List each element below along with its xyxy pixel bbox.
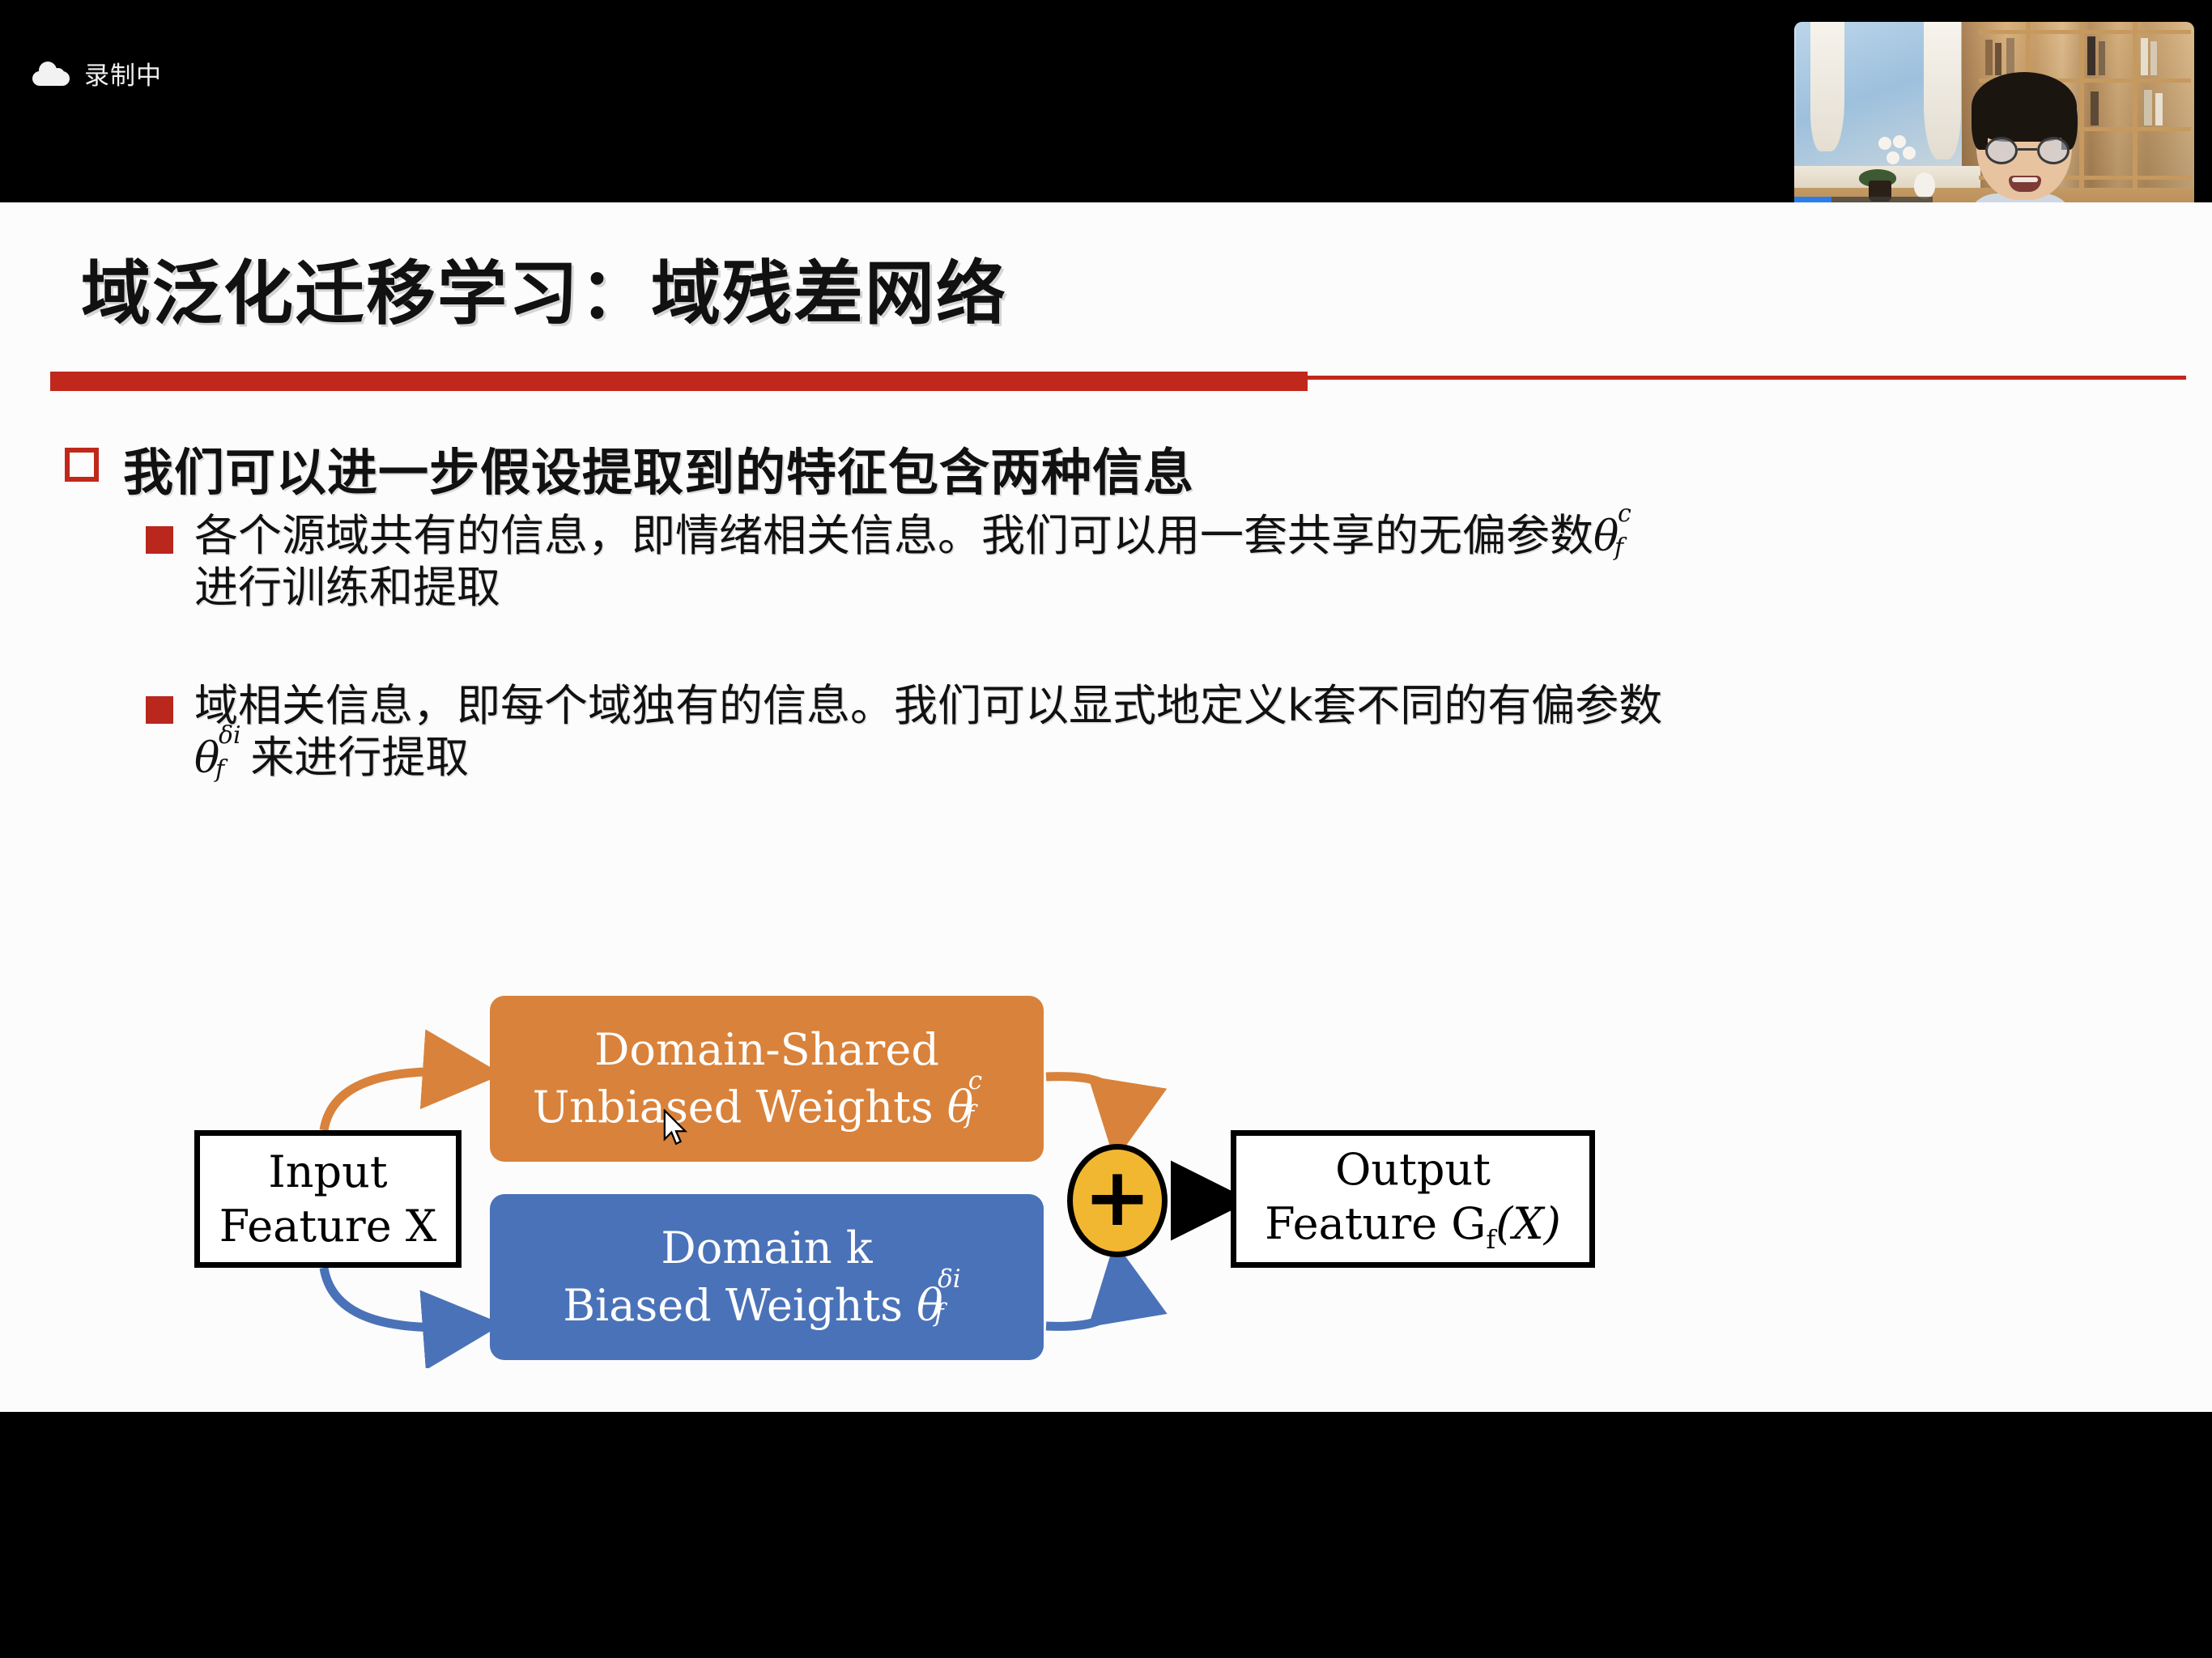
theta-subscript: f xyxy=(215,755,224,784)
theta-delta-i-f-formula: θδif xyxy=(917,1278,971,1334)
bullet-level1-text: 我们可以进一步假设提取到的特征包含两种信息 xyxy=(123,432,1194,504)
bullet-level2-text: 域相关信息，即每个域独有的信息。我们可以显式地定义k套不同的有偏参数 θδif来… xyxy=(194,680,1662,784)
bullet-2b-part2: 来进行提取 xyxy=(250,732,469,783)
input-feature-box: Input Feature X xyxy=(194,1130,462,1268)
output-feature-box: Output Feature Gf(X) xyxy=(1231,1130,1595,1268)
output-box-line1: Output xyxy=(1335,1142,1491,1197)
bullet-square-solid-icon xyxy=(146,696,173,724)
bullet-level2-item: 各个源域共有的信息，即情绪相关信息。我们可以用一套共享的无偏参数θcf 进行训练… xyxy=(146,510,1649,614)
bullet-level2-item: 域相关信息，即每个域独有的信息。我们可以显式地定义k套不同的有偏参数 θδif来… xyxy=(146,680,1662,784)
theta-c-f-formula: θcf xyxy=(1593,512,1649,562)
theta-superscript: δi xyxy=(219,721,241,750)
bullet-level1: 我们可以进一步假设提取到的特征包含两种信息 xyxy=(65,432,1194,504)
architecture-diagram: Input Feature X Domain-Shared Unbiased W… xyxy=(0,915,1700,1368)
bullet-square-hollow-icon xyxy=(65,448,99,482)
output-box-line2: Feature Gf(X) xyxy=(1265,1197,1561,1256)
title-rule-thin xyxy=(1308,376,2186,380)
plus-icon: + xyxy=(1083,1169,1151,1226)
domaink-box-line1: Domain k xyxy=(661,1220,872,1277)
theta-c-f-formula: θcf xyxy=(947,1079,1002,1136)
theta-superscript: c xyxy=(1618,500,1631,528)
bullet-level2-text: 各个源域共有的信息，即情绪相关信息。我们可以用一套共享的无偏参数θcf 进行训练… xyxy=(194,510,1649,614)
bullet-2a-part2: 进行训练和提取 xyxy=(194,562,500,613)
recording-indicator: 录制中 xyxy=(32,55,162,91)
recording-bar: 录制中 xyxy=(0,0,2212,202)
page-title: 域泛化迁移学习：域残差网络 xyxy=(81,236,1007,338)
domain-k-box: Domain k Biased Weights θδif xyxy=(490,1194,1044,1360)
input-box-line2: Feature X xyxy=(219,1199,437,1254)
cloud-icon xyxy=(32,62,70,86)
domaink-box-line2: Biased Weights θδif xyxy=(563,1278,970,1334)
bottom-control-band xyxy=(0,1460,2212,1658)
bullet-2a-part1: 各个源域共有的信息，即情绪相关信息。我们可以用一套共享的无偏参数 xyxy=(194,510,1593,561)
bullet-2b-part1: 域相关信息，即每个域独有的信息。我们可以显式地定义k套不同的有偏参数 xyxy=(194,680,1662,731)
shared-box-line2: Unbiased Weights θcf xyxy=(533,1079,1002,1136)
bullet-square-solid-icon xyxy=(146,526,173,554)
theta-delta-i-f-formula: θδif xyxy=(194,734,250,784)
sum-node: + xyxy=(1067,1144,1168,1257)
screen: 录制中 xyxy=(0,0,2212,1658)
input-box-line1: Input xyxy=(268,1145,387,1200)
recording-label: 录制中 xyxy=(84,55,162,91)
domain-shared-box: Domain-Shared Unbiased Weights θcf xyxy=(490,996,1044,1162)
theta-subscript: f xyxy=(1614,534,1623,562)
mouse-cursor xyxy=(662,1109,690,1146)
slide-canvas: 域泛化迁移学习：域残差网络 我们可以进一步假设提取到的特征包含两种信息 各个源域… xyxy=(0,202,2212,1412)
title-rule-thick xyxy=(50,372,1308,391)
shared-box-line1: Domain-Shared xyxy=(594,1022,939,1078)
